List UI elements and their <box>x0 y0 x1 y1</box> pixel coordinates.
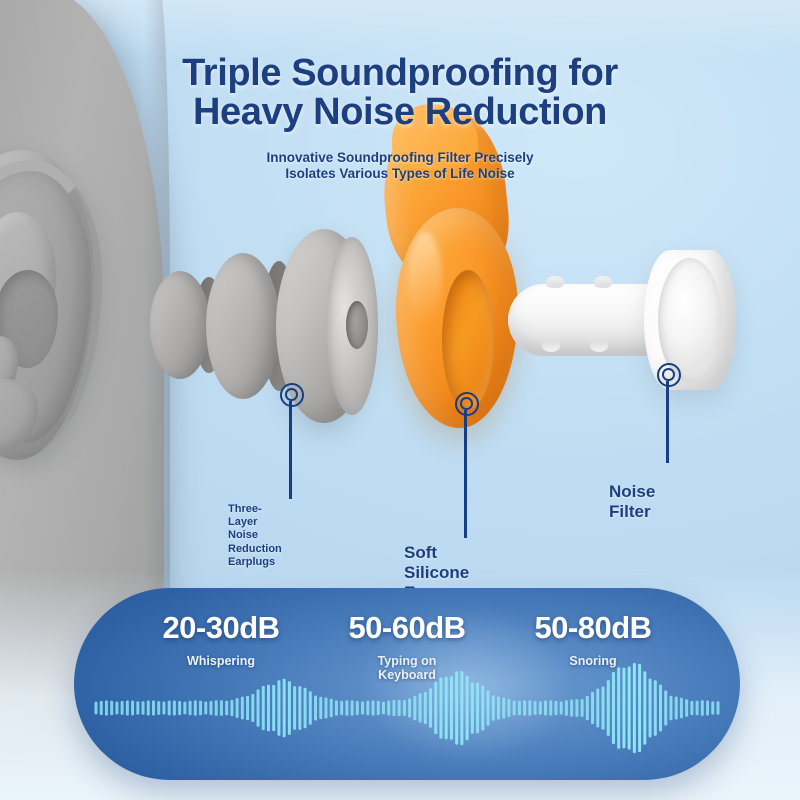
noise-filter-part <box>508 248 738 398</box>
background-top-fade <box>0 0 800 60</box>
callout-leader-line <box>666 381 669 463</box>
subtitle-line-1: Innovative Soundproofing Filter Precisel… <box>0 150 800 166</box>
ear-fin-highlight <box>408 232 442 328</box>
page-subtitle: Innovative Soundproofing Filter Precisel… <box>0 150 800 182</box>
earplug-tips-part <box>150 225 380 425</box>
noise-level-banner: 20-30dB Whispering 50-60dB Typing on Key… <box>74 588 740 780</box>
filter-stem <box>508 284 660 356</box>
subtitle-line-2: Isolates Various Types of Life Noise <box>0 166 800 182</box>
callout-ring-icon <box>455 392 479 416</box>
callout-earplugs-label: Three-Layer Noise Reduction Earplugs <box>228 503 282 569</box>
noise-level-value: 20-30dB <box>128 610 314 646</box>
product-infographic: Triple Soundproofing for Heavy Noise Red… <box>0 0 800 800</box>
callout-leader-line <box>289 401 292 499</box>
callout-ring-icon <box>280 383 304 407</box>
filter-fin-top-1 <box>546 276 564 288</box>
filter-fin-bottom-2 <box>590 340 608 352</box>
filter-fin-top-2 <box>594 276 612 288</box>
title-line-1: Triple Soundproofing for <box>182 52 618 94</box>
callout-noise-filter-label: Noise Filter <box>609 482 655 522</box>
noise-level-value: 50-60dB <box>314 610 500 646</box>
noise-level-item: 20-30dB Whispering <box>128 610 314 668</box>
audio-waveform <box>74 662 740 754</box>
ear-model <box>0 150 94 460</box>
page-title: Triple Soundproofing for Heavy Noise Red… <box>0 54 800 132</box>
noise-level-item: 50-80dB Snoring <box>500 610 686 668</box>
earplug-flange-1 <box>150 271 210 379</box>
earplug-bore-hole <box>346 301 368 349</box>
ear-fin-cavity <box>442 270 494 410</box>
callout-ring-icon <box>657 363 681 387</box>
filter-fin-bottom-1 <box>542 340 560 352</box>
title-line-2: Heavy Noise Reduction <box>0 93 800 132</box>
earplug-flange-2 <box>206 253 280 399</box>
noise-level-value: 50-80dB <box>500 610 686 646</box>
callout-leader-line <box>464 410 467 538</box>
